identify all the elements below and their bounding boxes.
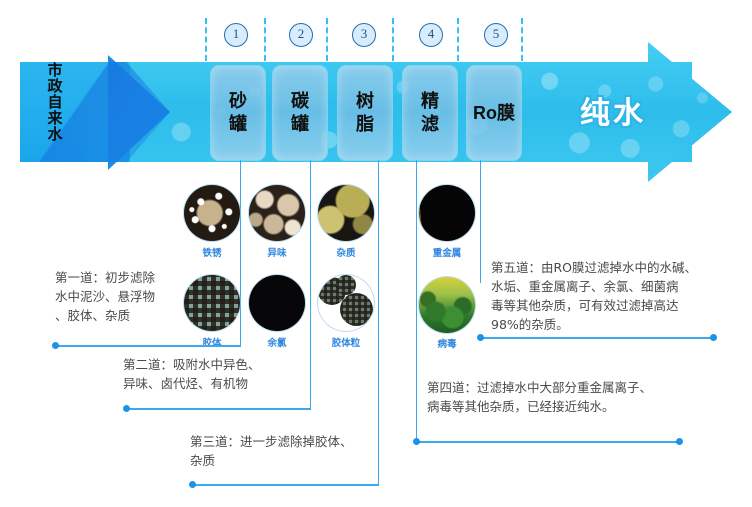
inlet-label-char-5: 水 xyxy=(44,126,66,142)
virus-sample-caption: 病毒 xyxy=(412,336,482,350)
note-2-end-dot xyxy=(123,405,130,412)
filter-stage-3-resin[interactable]: 树脂 xyxy=(337,65,393,161)
note-5-end-dot xyxy=(710,334,717,341)
stage-separator-2 xyxy=(264,18,266,61)
heavy-metal-sample-icon xyxy=(419,185,475,241)
residual-chlorine-sample-caption: 余氯 xyxy=(242,335,312,349)
note-2-leader-line xyxy=(126,408,311,410)
inlet-label-char-1: 市 xyxy=(44,62,66,78)
note-1-line-1: 第一道：初步滤除 xyxy=(55,268,205,287)
filter-stage-2-carbon-tank[interactable]: 碳罐 xyxy=(272,65,328,161)
note-4-line-1: 第四道：过滤掉水中大部分重金属离子、 xyxy=(427,378,727,397)
filter-stage-4-label: 精滤 xyxy=(416,90,444,136)
filter-stage-4-fine-filter[interactable]: 精滤 xyxy=(402,65,458,161)
filter-stage-2-label: 碳罐 xyxy=(286,90,314,136)
impurity-sample-caption: 杂质 xyxy=(311,245,381,259)
virus-sample-icon xyxy=(419,277,475,333)
note-5-text: 第五道：由RO膜过滤掉水中的水碱、 水垢、重金属离子、余氯、细菌病 毒等其他杂质… xyxy=(491,258,741,334)
impurity-sample-icon xyxy=(318,185,374,241)
note-4-end-dot xyxy=(676,438,683,445)
note-3-text: 第三道：进一步滤除掉胶体、 杂质 xyxy=(190,432,405,470)
colloid-particle-ball-3 xyxy=(336,275,356,295)
note-2-line-1: 第二道：吸附水中异色、 xyxy=(123,355,333,374)
inlet-label-char-2: 政 xyxy=(44,78,66,94)
colloid-particle-ball-2 xyxy=(340,293,373,326)
note-4-start-dot xyxy=(413,438,420,445)
note-2-text: 第二道：吸附水中异色、 异味、卤代烃、有机物 xyxy=(123,355,333,393)
stage-separator-3 xyxy=(326,18,328,61)
inlet-label: 市 政 自 来 水 xyxy=(44,62,66,142)
note-3-end-dot xyxy=(189,481,196,488)
filter-stage-5-ro-membrane[interactable]: Ro膜 xyxy=(466,65,522,161)
note-4-line-2: 病毒等其他杂质，已经接近纯水。 xyxy=(427,397,727,416)
filter-stage-1-sand-tank[interactable]: 砂罐 xyxy=(210,65,266,161)
step-badge-5[interactable]: 5 xyxy=(484,23,508,47)
outlet-arrow: 纯水 xyxy=(520,42,732,182)
odor-sample-caption: 异味 xyxy=(242,245,312,259)
inlet-label-char-4: 来 xyxy=(44,110,66,126)
stage-separator-4 xyxy=(392,18,394,61)
note-5-line-2: 水垢、重金属离子、余氯、细菌病 xyxy=(491,277,741,296)
note-3-leader-line xyxy=(192,484,379,486)
outlet-label: 纯水 xyxy=(580,88,646,132)
colloid-particle-sample-icon xyxy=(318,275,374,331)
step-badge-1[interactable]: 1 xyxy=(224,23,248,47)
filter-stage-3-label: 树脂 xyxy=(351,90,379,136)
note-4-text: 第四道：过滤掉水中大部分重金属离子、 病毒等其他杂质，已经接近纯水。 xyxy=(427,378,727,416)
note-1-line-2: 水中泥沙、悬浮物 xyxy=(55,287,205,306)
stage-separator-5 xyxy=(457,18,459,61)
water-filtration-diagram: 1 2 3 4 5 市 政 自 来 水 纯水 砂罐 碳罐 树脂 精滤 Ro膜 xyxy=(0,0,752,507)
rust-sample-icon xyxy=(184,185,240,241)
connector-drop-stage-5 xyxy=(480,160,481,283)
note-5-leader-line xyxy=(480,337,714,339)
stage-separator-1 xyxy=(205,18,207,61)
colloid-sample-caption: 胶体 xyxy=(177,335,247,349)
note-3-line-1: 第三道：进一步滤除掉胶体、 xyxy=(190,432,405,451)
odor-sample-icon xyxy=(249,185,305,241)
note-5-line-4: 98%的杂质。 xyxy=(491,315,741,334)
colloid-particle-sample-caption: 胶体粒 xyxy=(311,335,381,349)
rust-sample-caption: 铁锈 xyxy=(177,245,247,259)
note-1-text: 第一道：初步滤除 水中泥沙、悬浮物 、胶体、杂质 xyxy=(55,268,205,325)
note-1-end-dot xyxy=(52,342,59,349)
note-1-line-3: 、胶体、杂质 xyxy=(55,306,205,325)
note-3-line-2: 杂质 xyxy=(190,451,405,470)
step-badge-2[interactable]: 2 xyxy=(289,23,313,47)
note-4-leader-line xyxy=(416,441,680,443)
connector-drop-stage-4 xyxy=(416,160,417,441)
filter-stage-5-label: Ro膜 xyxy=(473,102,515,125)
filter-stage-1-label: 砂罐 xyxy=(224,90,252,136)
note-2-line-2: 异味、卤代烃、有机物 xyxy=(123,374,333,393)
residual-chlorine-sample-icon xyxy=(249,275,305,331)
heavy-metal-sample-caption: 重金属 xyxy=(412,245,482,259)
note-5-line-3: 毒等其他杂质，可有效过滤掉高达 xyxy=(491,296,741,315)
step-badge-3[interactable]: 3 xyxy=(352,23,376,47)
note-5-line-1: 第五道：由RO膜过滤掉水中的水碱、 xyxy=(491,258,741,277)
note-5-start-dot xyxy=(477,334,484,341)
step-badge-4[interactable]: 4 xyxy=(419,23,443,47)
note-1-leader-line xyxy=(55,345,241,347)
inlet-label-char-3: 自 xyxy=(44,94,66,110)
